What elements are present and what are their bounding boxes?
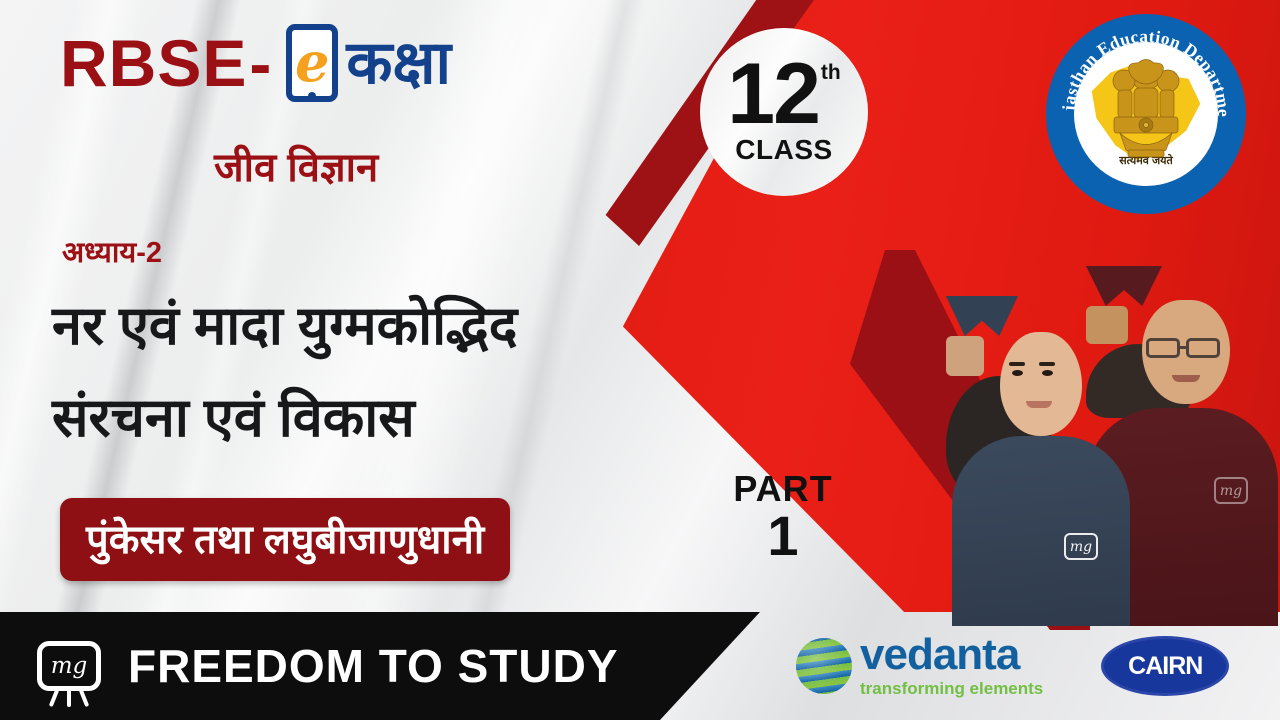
vedanta-tagline: transforming elements: [860, 679, 1043, 699]
tablet-icon: e: [286, 24, 338, 102]
female-eye: [1012, 370, 1023, 376]
kaksha-label: कक्षा: [346, 33, 451, 93]
department-ring-text: Rajasthan Education Department: [1046, 14, 1246, 214]
e-letter: e: [295, 41, 329, 84]
svg-text:Rajasthan Education Department: Rajasthan Education Department: [1046, 14, 1234, 117]
female-instructor: mg: [946, 296, 1132, 626]
female-collar: [946, 296, 1018, 336]
female-neck: [946, 336, 984, 376]
mg-logo-icon: mg: [34, 637, 104, 695]
eyeglass-bridge: [1180, 346, 1188, 349]
vedanta-name: vedanta: [860, 633, 1043, 677]
topic-pill-label: पुंकेसर तथा लघुबीजाणुधानी: [86, 510, 484, 565]
mg-board-shape: mg: [37, 641, 101, 691]
part-indicator: PART 1: [718, 468, 848, 564]
mg-easel-legs: [48, 689, 90, 709]
eyeglasses-icon: [1186, 338, 1220, 358]
shirt-mg-badge: mg: [1064, 533, 1098, 560]
female-face: [1000, 332, 1082, 436]
rajasthan-education-department-logo: Rajasthan Education Department: [1046, 14, 1246, 214]
brand-header: RBSE - e कक्षा: [60, 24, 451, 102]
thumbnail-canvas: 12 th CLASS RBSE - e कक्षा जीव विज्ञान अ…: [0, 0, 1280, 720]
class-ordinal-suffix: th: [821, 64, 841, 82]
sponsor-row: vedanta transforming elements CAIRN: [790, 612, 1280, 720]
board-name: RBSE: [60, 30, 247, 96]
female-eyebrow: [1039, 362, 1055, 366]
brand-dash: -: [249, 30, 272, 96]
footer-bar: mg FREEDOM TO STUDY: [0, 612, 760, 720]
part-number: 1: [718, 508, 848, 564]
female-mouth: [1026, 401, 1052, 408]
instructors-photo: mg mg: [918, 226, 1280, 626]
footer-tagline: FREEDOM TO STUDY: [128, 639, 619, 693]
cairn-name: CAIRN: [1128, 652, 1202, 681]
department-ring-label: Rajasthan Education Department: [1046, 14, 1234, 117]
mg-monogram: mg: [51, 653, 88, 679]
vedanta-logo: vedanta transforming elements: [796, 633, 1043, 699]
female-eye: [1042, 370, 1053, 376]
class-badge: 12 th CLASS: [700, 28, 868, 196]
class-word-label: CLASS: [735, 134, 832, 166]
chapter-number: अध्याय-2: [62, 232, 162, 271]
vedanta-globe-icon: [796, 638, 852, 694]
female-eyebrow: [1009, 362, 1025, 366]
shirt-mg-badge: mg: [1214, 477, 1248, 504]
eyeglasses-icon: [1146, 338, 1180, 358]
chapter-title-line-1: नर एवं मादा युग्मकोद्भिद: [52, 286, 517, 360]
female-shirt: [952, 436, 1130, 626]
class-number: 12: [727, 58, 819, 131]
chapter-title-line-2: संरचना एवं विकास: [52, 378, 415, 452]
vedanta-wordmark: vedanta transforming elements: [860, 633, 1043, 699]
male-mouth: [1172, 375, 1200, 382]
topic-pill: पुंकेसर तथा लघुबीजाणुधानी: [60, 498, 510, 581]
class-number-row: 12 th: [727, 58, 841, 131]
subject-name: जीव विज्ञान: [214, 138, 378, 193]
cairn-logo: CAIRN: [1101, 636, 1229, 696]
